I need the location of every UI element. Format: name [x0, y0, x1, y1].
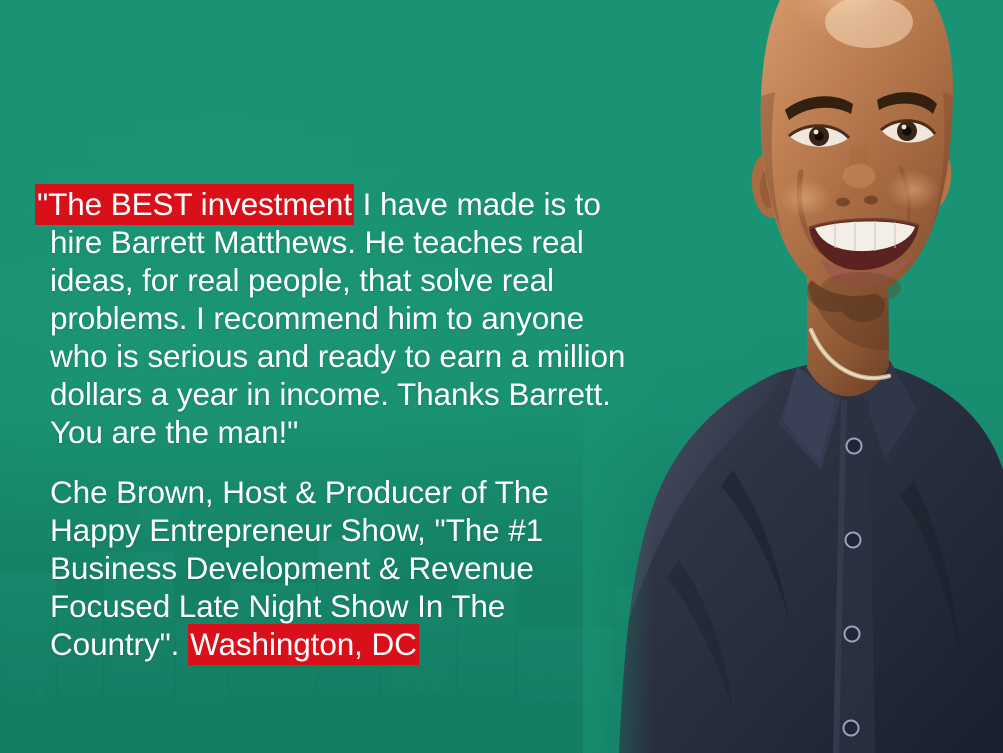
testimonial-attribution: Che Brown, Host & Producer of The Happy …	[50, 473, 635, 663]
testimonial-quote: "The BEST investment I have made is to h…	[50, 185, 635, 451]
attribution-location-highlight: Washington, DC	[188, 624, 419, 665]
quote-body: I have made is to hire Barrett Matthews.…	[50, 186, 625, 450]
testimonial-card: "The BEST investment I have made is to h…	[0, 0, 1003, 753]
quote-block: "The BEST investment I have made is to h…	[35, 185, 635, 663]
quote-highlight: "The BEST investment	[35, 184, 354, 225]
